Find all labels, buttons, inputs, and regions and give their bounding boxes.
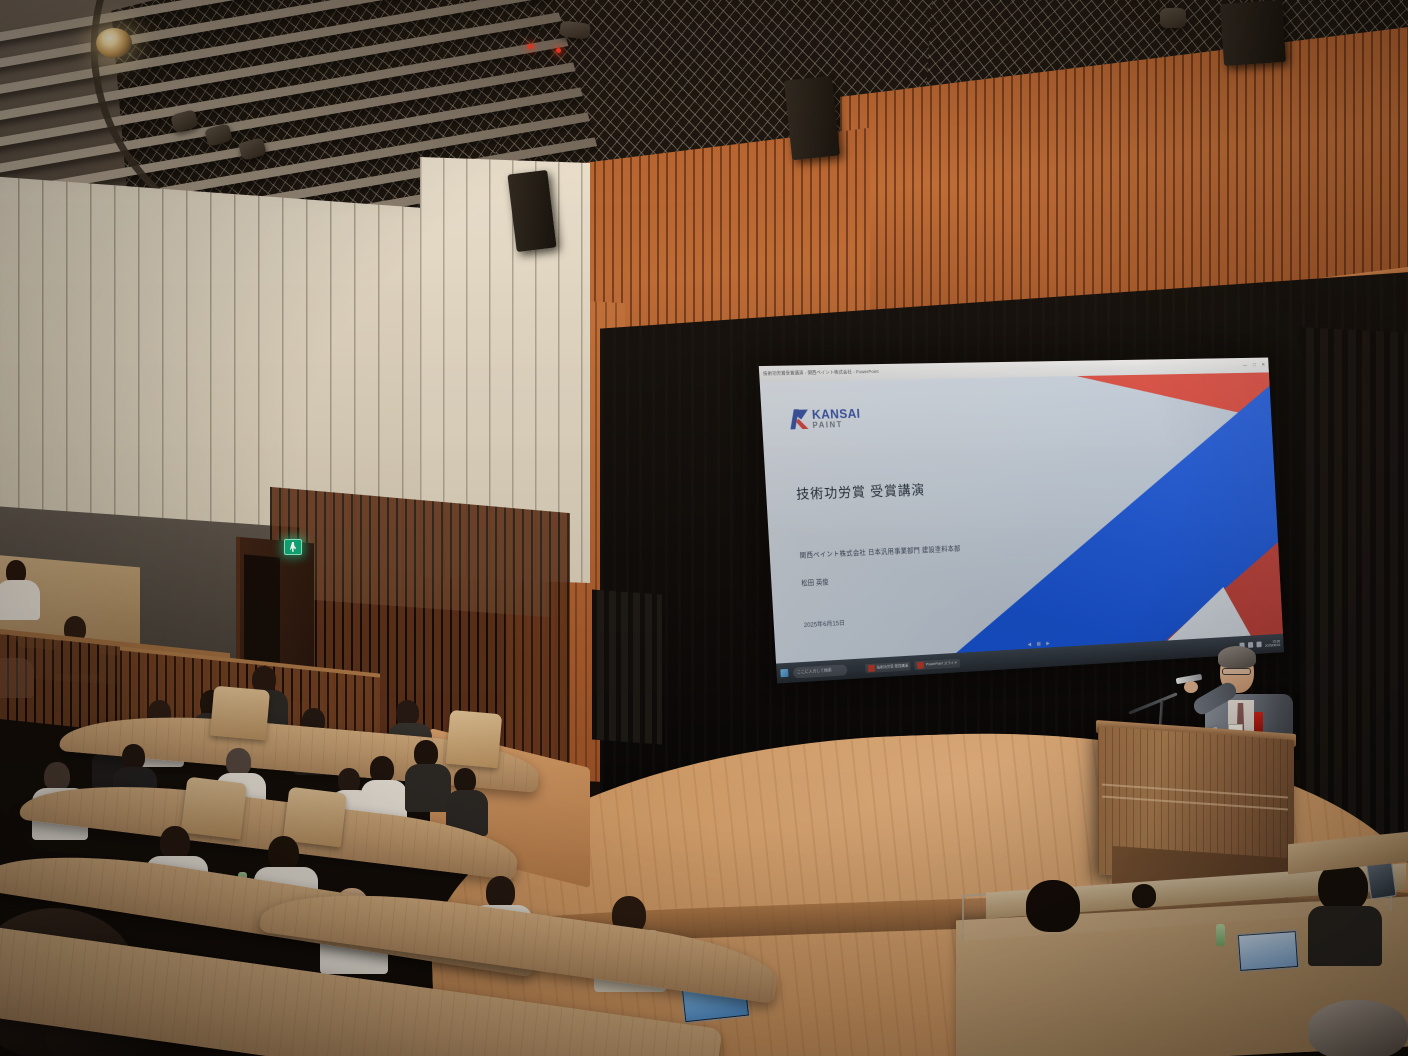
presenter-hand [1184, 681, 1198, 693]
tray-network-icon[interactable] [1248, 642, 1253, 648]
close-icon[interactable]: ✕ [1261, 362, 1265, 368]
ceiling-spotlight-d [559, 20, 591, 39]
kansai-paint-logo: KANSAI PAINT [791, 408, 861, 430]
slide-affiliation: 関西ペイント株式会社 日本汎用事業部門 建設塗料本部 [799, 543, 960, 560]
speaker-icon-center [784, 76, 840, 161]
minimize-icon[interactable]: — [1243, 363, 1248, 369]
maximize-icon[interactable]: □ [1253, 362, 1256, 368]
speaker-icon-right [1220, 0, 1286, 66]
slide-presenter-name: 松田 英俊 [801, 577, 829, 588]
ceiling-indicator-led-2 [556, 48, 561, 53]
logo-sub-text: PAINT [812, 420, 861, 429]
seat-back-1 [446, 710, 503, 768]
taskbar-app-2-label: PowerPoint スライド [926, 660, 958, 667]
seat-back-3 [181, 777, 247, 840]
window-title: 技術功労賞受賞講演 - 関西ペイント株式会社 - PowerPoint [763, 369, 879, 377]
taskbar-app-list[interactable]: 技術功労賞 受賞講演 PowerPoint スライド [865, 658, 960, 673]
seat-back-2 [210, 686, 270, 741]
slide-date: 2025年6月15日 [804, 618, 846, 629]
ceiling-indicator-led-1 [528, 44, 533, 49]
taskbar-app-2[interactable]: PowerPoint スライド [914, 658, 960, 670]
slide-title: 技術功労賞 受賞講演 [796, 478, 926, 502]
ceiling-spotlight-lit [96, 28, 132, 58]
window-controls[interactable]: — □ ✕ [1243, 362, 1266, 368]
presenter-hair [1218, 646, 1256, 668]
clock-date: 2025/06/15 [1265, 643, 1280, 648]
auditorium-scene: 技術功労賞受賞講演 - 関西ペイント株式会社 - PowerPoint — □ … [0, 0, 1408, 1056]
water-bottle-2 [1216, 924, 1225, 946]
slide-canvas: KANSAI PAINT 技術功労賞 受賞講演 関西ペイント株式会社 日本汎用事… [760, 372, 1283, 663]
search-placeholder: ここに入力して検索 [797, 667, 832, 675]
tray-volume-icon[interactable] [1256, 641, 1261, 647]
taskbar-app-1[interactable]: 技術功労賞 受賞講演 [865, 661, 911, 673]
projection-screen[interactable]: 技術功労賞受賞講演 - 関西ペイント株式会社 - PowerPoint — □ … [759, 358, 1284, 684]
prev-slide-icon[interactable]: ◀ [1028, 642, 1032, 648]
stage-curtain-fold [592, 590, 662, 745]
glasses-icon [1222, 668, 1251, 675]
slide-menu-icon[interactable]: ▦ [1036, 641, 1041, 647]
projected-desktop: 技術功労賞受賞講演 - 関西ペイント株式会社 - PowerPoint — □ … [759, 358, 1284, 684]
audience-laptop-4[interactable] [1237, 930, 1300, 972]
next-slide-icon[interactable]: ▶ [1046, 641, 1050, 647]
taskbar-search-input[interactable]: ここに入力して検索 [793, 664, 848, 678]
emergency-exit-icon [284, 539, 302, 555]
kansai-k-mark-icon [791, 409, 809, 429]
start-button-icon[interactable] [780, 669, 788, 677]
taskbar-app-1-label: 技術功労賞 受賞講演 [876, 663, 908, 670]
taskbar-clock[interactable]: 15:36 2025/06/15 [1265, 639, 1281, 648]
ceiling-spotlight-e [1160, 8, 1186, 28]
